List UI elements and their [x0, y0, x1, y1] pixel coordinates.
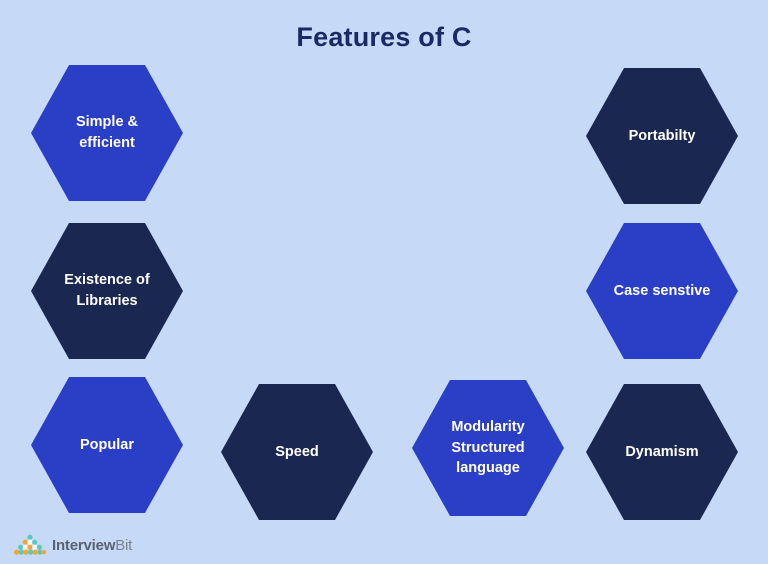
- hexagon-label-portabilty: Portabilty: [602, 126, 722, 147]
- hexagon-modularity[interactable]: ModularityStructuredlanguage: [412, 380, 564, 516]
- hexagon-label-speed: Speed: [237, 442, 357, 463]
- brand-name-light: Bit: [115, 537, 132, 554]
- brand-logo: InterviewBit: [14, 534, 132, 556]
- infographic-canvas: Features of C Simple &efficientPortabilt…: [0, 0, 768, 564]
- hexagon-label-modularity: ModularityStructuredlanguage: [428, 417, 548, 479]
- page-title: Features of C: [0, 22, 768, 53]
- brand-name: InterviewBit: [52, 537, 132, 554]
- hexagon-label-popular: Popular: [47, 435, 167, 456]
- hexagon-dynamism[interactable]: Dynamism: [586, 384, 738, 520]
- brand-name-bold: Interview: [52, 537, 115, 554]
- hexagon-label-simple-efficient: Simple &efficient: [47, 112, 167, 153]
- hexagon-speed[interactable]: Speed: [221, 384, 373, 520]
- hexagon-label-dynamism: Dynamism: [602, 442, 722, 463]
- hexagon-simple-efficient[interactable]: Simple &efficient: [31, 65, 183, 201]
- hexagon-existence-libs[interactable]: Existence ofLibraries: [31, 223, 183, 359]
- interviewbit-mark-icon: [14, 534, 46, 556]
- hexagon-popular[interactable]: Popular: [31, 377, 183, 513]
- hexagon-case-senstive[interactable]: Case senstive: [586, 223, 738, 359]
- hexagon-portabilty[interactable]: Portabilty: [586, 68, 738, 204]
- hexagon-label-existence-libs: Existence ofLibraries: [47, 270, 167, 311]
- hexagon-label-case-senstive: Case senstive: [602, 281, 722, 302]
